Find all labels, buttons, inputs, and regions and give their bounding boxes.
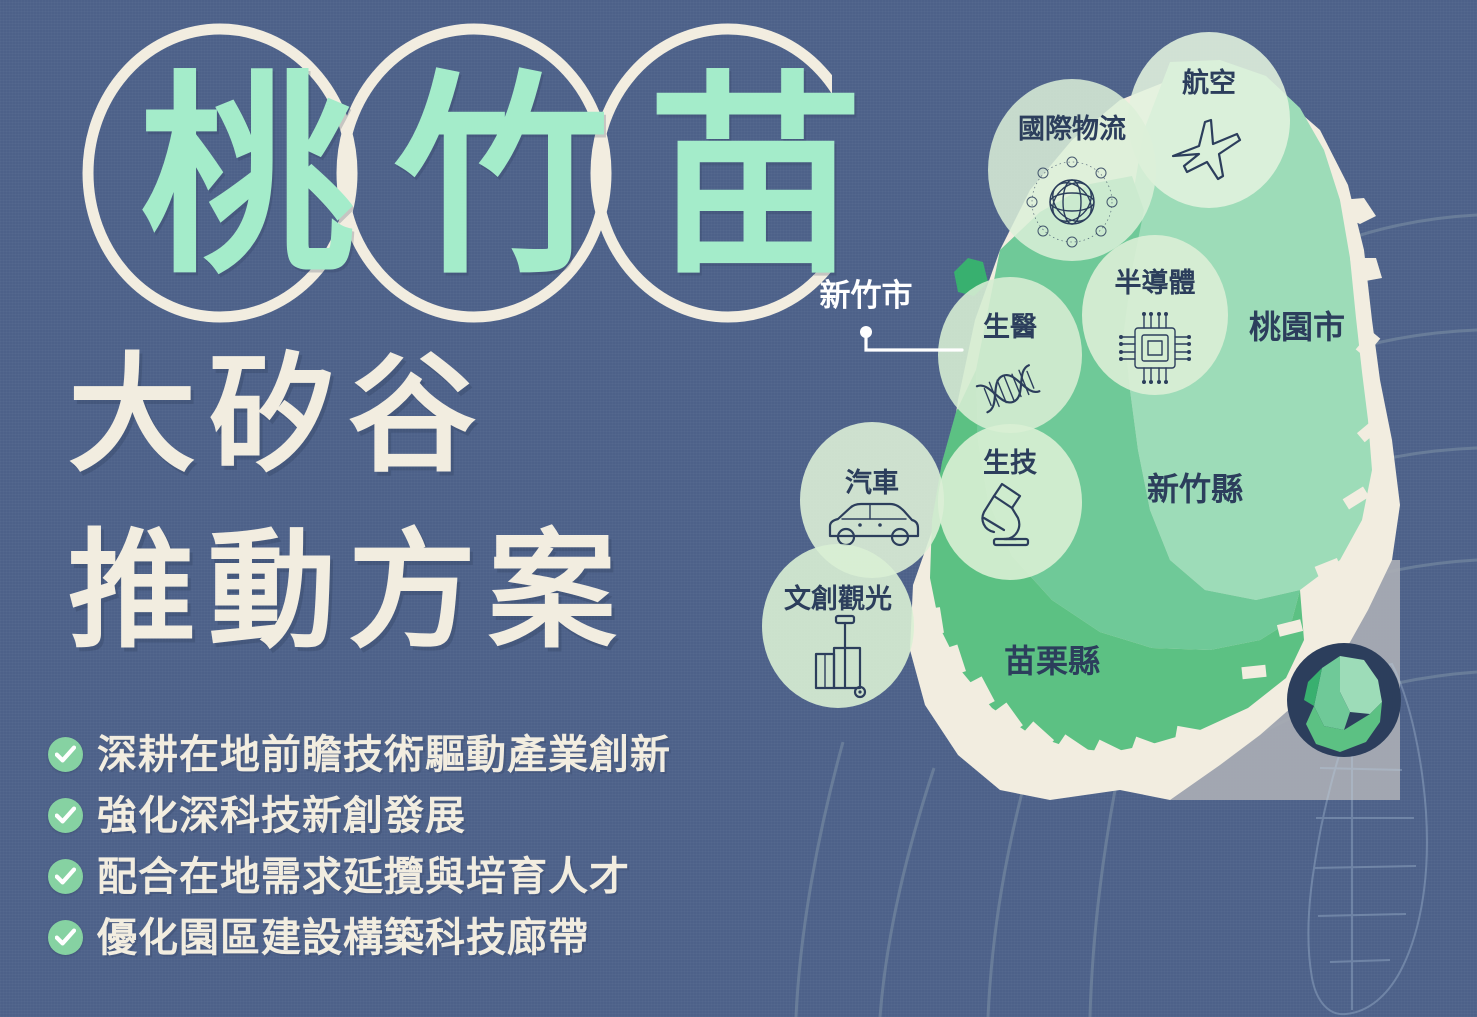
title-char-2: 竹 bbox=[394, 70, 609, 285]
county-label-taoyuan: 桃園市 bbox=[1249, 308, 1345, 346]
hub-semiconductor[interactable]: 半導體 bbox=[1082, 235, 1228, 395]
check-circle-icon bbox=[48, 798, 83, 833]
taiwan-locator-inset bbox=[1287, 643, 1427, 1014]
hub-label: 文創觀光 bbox=[784, 583, 892, 615]
bullet-text: 強化深科技新創發展 bbox=[97, 796, 466, 836]
map-illustration: 航空 國際物流 bbox=[700, 0, 1477, 1017]
region-map: 航空 國際物流 bbox=[700, 0, 1477, 1017]
title-char-1: 桃 bbox=[140, 70, 355, 285]
check-circle-icon bbox=[48, 859, 83, 894]
list-item: 深耕在地前瞻技術驅動產業創新 bbox=[48, 726, 768, 783]
hub-logistics[interactable]: 國際物流 bbox=[988, 79, 1156, 261]
bullet-list: 深耕在地前瞻技術驅動產業創新 強化深科技新創發展 配合在地需求延攬與培育人才 優… bbox=[48, 726, 768, 970]
check-circle-icon bbox=[48, 920, 83, 955]
hub-label: 國際物流 bbox=[1018, 114, 1126, 145]
hub-culture-tourism[interactable]: 文創觀光 bbox=[762, 544, 914, 708]
headline-line-1: 大矽谷 bbox=[68, 352, 488, 480]
hub-label: 生醫 bbox=[983, 312, 1037, 343]
hub-label: 航空 bbox=[1182, 67, 1236, 99]
hub-label: 半導體 bbox=[1115, 267, 1196, 299]
hub-label: 生技 bbox=[983, 448, 1037, 479]
county-label-miaoli: 苗栗縣 bbox=[1004, 642, 1100, 680]
bullet-text: 深耕在地前瞻技術驅動產業創新 bbox=[97, 735, 671, 775]
city-label: 新竹市 bbox=[820, 278, 913, 314]
list-item: 優化園區建設構築科技廊帶 bbox=[48, 909, 768, 966]
bullet-text: 配合在地需求延攬與培育人才 bbox=[97, 857, 630, 897]
hub-label: 汽車 bbox=[845, 468, 899, 499]
list-item: 強化深科技新創發展 bbox=[48, 787, 768, 844]
hub-biomedicine[interactable]: 生醫 bbox=[938, 277, 1082, 433]
poster-canvas: 桃 竹 苗 大矽谷 推動方案 深耕在地前瞻技術驅動產業創新 強化深科技新創發展 bbox=[0, 0, 1477, 1017]
bullet-text: 優化園區建設構築科技廊帶 bbox=[97, 918, 589, 958]
list-item: 配合在地需求延攬與培育人才 bbox=[48, 848, 768, 905]
check-circle-icon bbox=[48, 737, 83, 772]
hub-biotech[interactable]: 生技 bbox=[938, 424, 1082, 580]
left-content-column: 桃 竹 苗 大矽谷 推動方案 深耕在地前瞻技術驅動產業創新 強化深科技新創發展 bbox=[0, 0, 790, 1017]
headline-line-2: 推動方案 bbox=[68, 528, 628, 656]
county-label-hsinchu-county: 新竹縣 bbox=[1147, 470, 1243, 508]
